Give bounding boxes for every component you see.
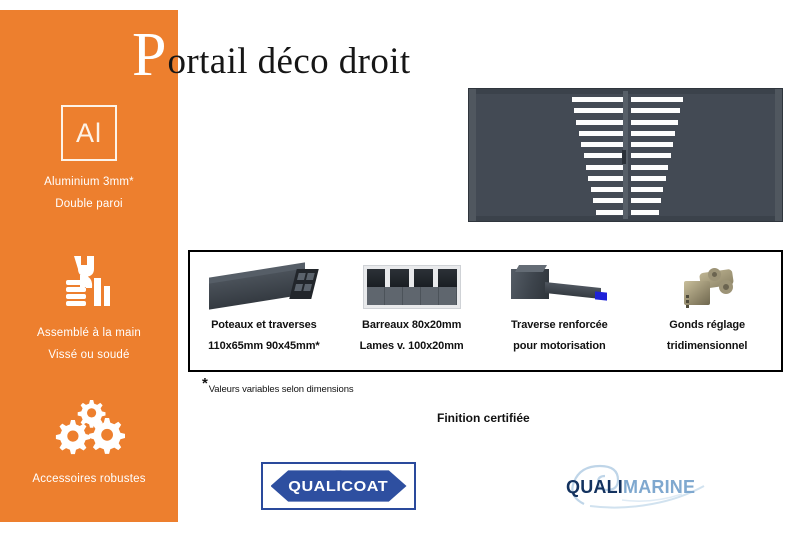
gate-slat [631, 108, 681, 113]
gate-slat [631, 97, 683, 102]
gate-slat [631, 131, 676, 136]
sidebar-feature-aluminium: Al Aluminium 3mm* Double paroi [0, 105, 178, 216]
aluminium-beam-profile-icon [205, 260, 323, 314]
gate-slat [579, 131, 624, 136]
sidebar-feature-assembly-line2: Vissé ou soudé [48, 345, 129, 367]
page-title-initial: P [132, 24, 166, 86]
gate-slat [631, 120, 678, 125]
gate-slat [631, 210, 659, 215]
gate-slat [593, 198, 623, 203]
sidebar-feature-assembly: Assemblé à la main Vissé ou soudé [0, 254, 178, 367]
qualimarine-text-light: MARINE [623, 477, 695, 497]
feature-cell-posts: Poteaux et traverses 110x65mm 90x45mm* [190, 252, 338, 370]
sidebar-feature-assembly-line1: Assemblé à la main [37, 323, 141, 345]
feature-cell-bars: Barreaux 80x20mm Lames v. 100x20mm [338, 252, 486, 370]
bars-slats-sample-icon [363, 260, 461, 314]
gate-slat [572, 97, 624, 102]
hand-holding-wrench-icon [56, 254, 122, 312]
certification-heading: Finition certifiée [437, 411, 530, 425]
gate-slat [581, 142, 623, 147]
product-gate-image [468, 88, 783, 222]
qualimarine-logo: QUALIMARINE [560, 460, 710, 510]
gate-slat [584, 153, 624, 158]
feature-box: Poteaux et traverses 110x65mm 90x45mm* B… [188, 250, 783, 372]
feature-posts-label-2: 110x65mm 90x45mm* [208, 341, 319, 353]
gate-slat [631, 153, 671, 158]
feature-cell-crossbar: Traverse renforcée pour motorisation [486, 252, 634, 370]
footnote-text: Valeurs variables selon dimensions [209, 379, 354, 395]
feature-crossbar-label-1: Traverse renforcée [511, 320, 608, 332]
gate-slat [631, 142, 673, 147]
feature-posts-label-1: Poteaux et traverses [211, 320, 317, 332]
gate-slat [631, 176, 666, 181]
gate-slat [631, 198, 661, 203]
footnote-marker: * [202, 379, 208, 388]
feature-bars-label-2: Lames v. 100x20mm [360, 341, 464, 353]
qualimarine-text-dark: QUALI [566, 477, 623, 497]
gate-slat [574, 108, 624, 113]
al-symbol-label: Al [76, 120, 102, 147]
gate-slat [631, 187, 664, 192]
sidebar-feature-accessories: Accessoires robustes [0, 400, 178, 491]
gate-handle [622, 150, 626, 164]
qualicoat-logo: QUALICOAT [261, 462, 416, 510]
qualicoat-tick-icon [330, 470, 348, 477]
sidebar-feature-aluminium-line1: Aluminium 3mm* [44, 172, 134, 194]
gate-left-leaf [476, 94, 626, 216]
sidebar-feature-accessories-line1: Accessoires robustes [32, 469, 145, 491]
gate-left-post [469, 89, 476, 221]
sidebar-feature-aluminium-line2: Double paroi [55, 194, 123, 216]
reinforced-crossbar-icon [509, 260, 609, 314]
gate-slat [576, 120, 623, 125]
feature-bars-label-1: Barreaux 80x20mm [362, 320, 461, 332]
gate-right-leaf [626, 94, 776, 216]
feature-crossbar-label-2: pour motorisation [513, 341, 605, 353]
footnote: * Valeurs variables selon dimensions [202, 379, 354, 395]
gate-slat [586, 165, 624, 170]
page-title: P ortail déco droit [132, 22, 411, 86]
aluminium-al-box-icon: Al [61, 105, 117, 161]
gate-body [468, 88, 783, 222]
gate-right-post [775, 89, 782, 221]
gate-slat [591, 187, 624, 192]
page-title-rest: ortail déco droit [167, 43, 410, 80]
gate-slat [588, 176, 623, 181]
feature-cell-hinges: Gonds réglage tridimensionnel [633, 252, 781, 370]
adjustable-hinge-icon [676, 260, 738, 314]
feature-hinges-label-1: Gonds réglage [669, 320, 745, 332]
qualicoat-logo-text: QUALICOAT [289, 478, 389, 495]
gears-icon [50, 400, 128, 458]
gate-slat [596, 210, 624, 215]
feature-hinges-label-2: tridimensionnel [667, 341, 747, 353]
gate-slat [631, 165, 669, 170]
